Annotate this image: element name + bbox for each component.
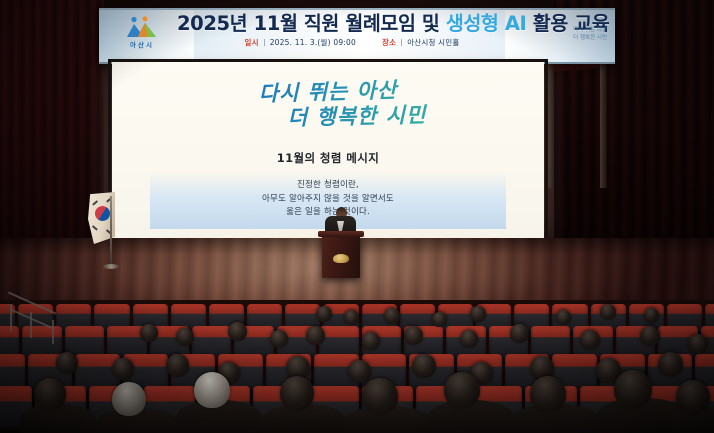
attendee-head — [510, 324, 529, 343]
datetime-label: 일시 — [245, 38, 259, 47]
asan-city-logo: 아산시 — [111, 16, 173, 56]
event-banner: 아산시 2025년 11월 직원 월례모임 및 생성형 AI 활용 교육 일시2… — [99, 8, 615, 64]
podium-top-surface — [318, 231, 364, 237]
attendee-head — [676, 380, 710, 414]
attendee-head — [614, 370, 652, 408]
slide-quote-line2: 아무도 알아주지 않을 것을 알면서도 — [150, 193, 506, 207]
wall-pillar-far-right — [600, 58, 607, 188]
attendee-head — [644, 308, 659, 323]
attendee-head — [166, 354, 189, 377]
datetime-value: 2025. 11. 3.(월) 09:00 — [270, 38, 356, 47]
attendee-head — [140, 324, 158, 342]
attendee-head — [306, 326, 325, 345]
banner-slogan-line1: 다시 뛰는 아산 — [573, 26, 607, 34]
attendee-head — [530, 376, 566, 412]
attendee-head — [580, 330, 600, 350]
attendee-head — [556, 310, 571, 325]
banner-slogan-line2: 더 행복한 시민 — [573, 34, 607, 42]
attendee-head — [470, 306, 486, 322]
attendee-head — [316, 306, 332, 322]
podium-emblem-icon — [333, 254, 349, 263]
attendee-head — [384, 308, 400, 324]
attendee-head — [362, 332, 380, 350]
attendee-head — [270, 330, 288, 348]
banner-title-part1: 2025년 11월 직원 월례모임 및 — [177, 12, 446, 35]
projection-screen: 다시 뛰는 아산 더 행복한 시민 11월의 청렴 메시지 진정한 청렴이란, … — [112, 62, 544, 238]
audience-area — [0, 300, 714, 433]
attendee-head — [432, 312, 447, 327]
attendee-head — [412, 354, 436, 378]
slide-headline: 다시 뛰는 아산 더 행복한 시민 — [112, 80, 544, 129]
slide-section-title: 11월의 청렴 메시지 — [112, 150, 544, 166]
stair-handrail — [6, 298, 62, 346]
flag-stand-base — [103, 264, 119, 269]
wall-pillar-right — [546, 58, 553, 188]
banner-main: 2025년 11월 직원 월례모임 및 생성형 AI 활용 교육 일시2025.… — [177, 14, 527, 48]
attendee-head — [176, 328, 194, 346]
asan-city-emblem-icon — [125, 16, 159, 38]
place-value: 아산시청 시민홀 — [407, 38, 459, 47]
slide-quote-line1: 진정한 청렴이란, — [150, 179, 506, 193]
attendee-head — [56, 352, 78, 374]
attendee-head — [228, 322, 247, 341]
flag-pole — [110, 196, 112, 268]
banner-subtitle: 일시2025. 11. 3.(월) 09:00장소아산시청 시민홀 — [177, 37, 527, 48]
attendee-head-gray — [194, 372, 230, 408]
podium — [322, 236, 360, 278]
attendee-head — [444, 372, 480, 408]
place-label: 장소 — [382, 38, 396, 47]
banner-title: 2025년 11월 직원 월례모임 및 생성형 AI 활용 교육 — [177, 14, 527, 34]
logo-text: 아산시 — [111, 39, 173, 49]
attendee-head — [460, 330, 478, 348]
attendee-head-gray — [112, 382, 146, 416]
attendee-head — [348, 360, 371, 383]
banner-slogan: 다시 뛰는 아산 더 행복한 시민 — [573, 26, 607, 43]
banner-title-highlight: 생성형 AI — [446, 12, 527, 35]
attendee-head — [34, 378, 66, 410]
attendee-head — [640, 326, 660, 346]
attendee-head — [344, 310, 359, 325]
attendee-head — [362, 378, 398, 414]
attendee-head — [600, 304, 616, 320]
attendee-head — [688, 334, 708, 354]
attendee-head — [280, 376, 314, 410]
attendee-head — [404, 326, 423, 345]
auditorium-photo: 아산시 2025년 11월 직원 월례모임 및 생성형 AI 활용 교육 일시2… — [0, 0, 714, 433]
attendee-head — [658, 352, 683, 377]
attendee-head — [112, 358, 134, 380]
